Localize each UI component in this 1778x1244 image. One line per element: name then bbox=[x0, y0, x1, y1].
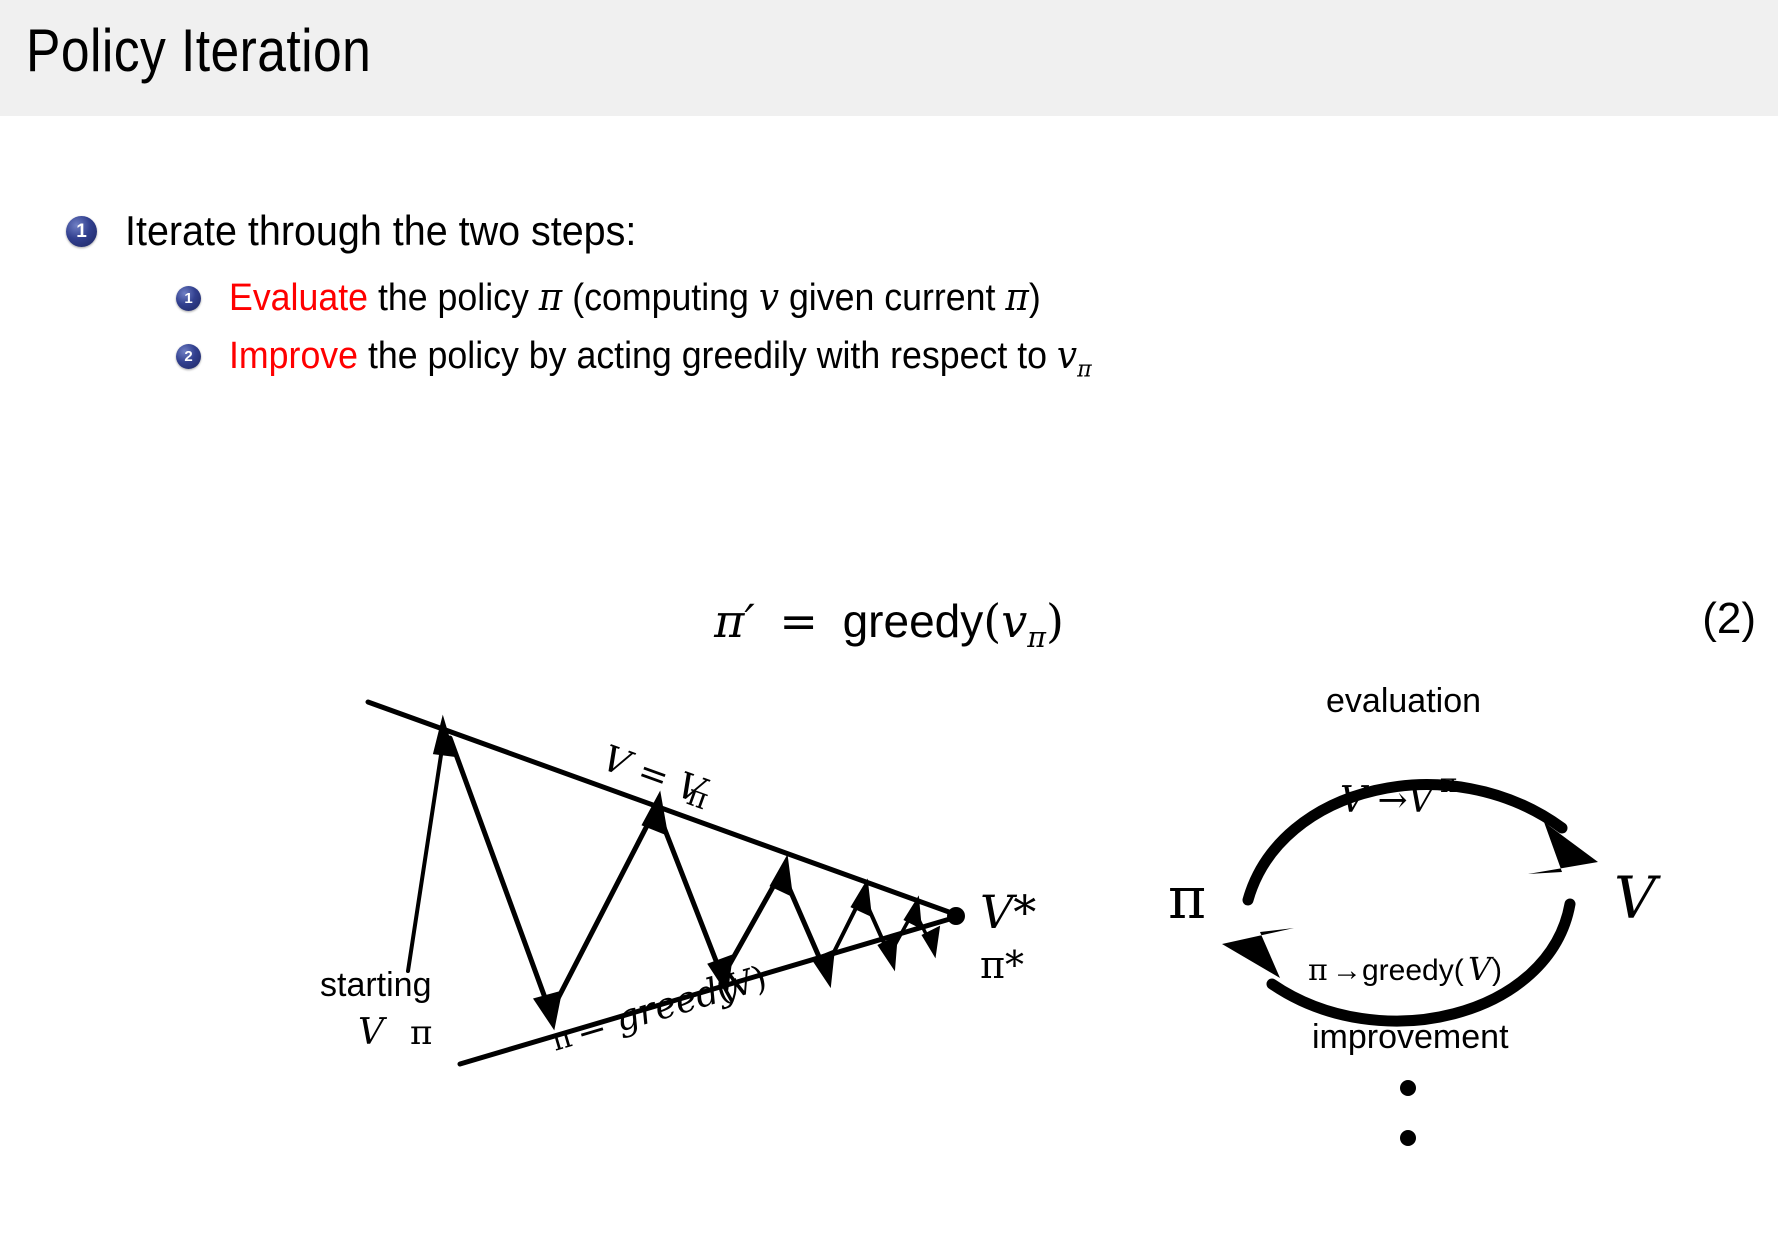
dot-1 bbox=[1400, 1080, 1416, 1096]
equation-paren-open: ( bbox=[983, 594, 1001, 648]
pi-symbol-2: π bbox=[1005, 275, 1028, 319]
slide-header: Policy Iteration bbox=[0, 0, 1778, 116]
v-pi-symbol: v bbox=[1057, 333, 1077, 377]
keyword-improve: Improve bbox=[229, 335, 358, 377]
policy-node-label: π bbox=[1168, 864, 1206, 932]
svg-text:): ) bbox=[1492, 954, 1502, 987]
list-item-label: Iterate through the two steps: bbox=[125, 210, 636, 252]
evaluate-text-2: (computing bbox=[572, 277, 749, 319]
svg-text:π: π bbox=[1308, 953, 1328, 988]
improvement-math-label: π →greedy( V ) bbox=[1308, 950, 1502, 988]
improvement-label: improvement bbox=[1312, 1018, 1509, 1056]
svg-text:V: V bbox=[1468, 950, 1494, 988]
list-item-iterate: 1 Iterate through the two steps: bbox=[66, 216, 669, 252]
improve-line: Improve the policy by acting greedily wi… bbox=[229, 336, 1092, 381]
svg-text:π: π bbox=[547, 1020, 576, 1059]
svg-text:π: π bbox=[1440, 769, 1457, 799]
gpi-cycle-figure: evaluation V →V π π V π →greedy( V ) imp… bbox=[1130, 676, 1690, 1146]
starting-v-label: V bbox=[358, 1012, 388, 1053]
equation-paren-close: ) bbox=[1046, 594, 1064, 648]
v-pi-subscript: π bbox=[1077, 355, 1092, 383]
svg-text:V →V: V →V bbox=[1340, 780, 1438, 821]
evaluate-text-3: given current bbox=[789, 277, 995, 319]
starting-label: starting bbox=[320, 966, 432, 1004]
evaluate-text-1: the policy bbox=[378, 277, 529, 319]
dot-2 bbox=[1400, 1130, 1416, 1146]
equation-number: (2) bbox=[1702, 594, 1756, 644]
policy-iteration-convergence-figure: starting V π V = V π π = greedy (V) V* π… bbox=[300, 676, 1060, 1116]
converged-v-star-label: V* bbox=[980, 885, 1036, 939]
keyword-evaluate: Evaluate bbox=[229, 277, 368, 319]
v-symbol: v bbox=[759, 275, 779, 319]
evaluation-math-label: V →V π bbox=[1340, 769, 1457, 821]
top-line-v-equals-vpi bbox=[368, 702, 960, 916]
equation-pi-prime: π′ bbox=[714, 594, 755, 648]
svg-text:→greedy(: →greedy( bbox=[1332, 954, 1464, 987]
evaluate-paren-close: ) bbox=[1029, 277, 1041, 319]
evaluate-line: Evaluate the policy π (computing v given… bbox=[229, 278, 1041, 317]
value-node-label: V bbox=[1614, 864, 1661, 932]
bullet-number-sub-1: 1 bbox=[176, 286, 201, 311]
bullet-number-1: 1 bbox=[66, 216, 97, 247]
improvement-arrowhead bbox=[1222, 928, 1294, 978]
slide-body: 1 Iterate through the two steps: 1 Evalu… bbox=[0, 116, 1778, 1244]
converged-pi-star-label: π* bbox=[980, 943, 1024, 987]
page-title: Policy Iteration bbox=[26, 16, 371, 85]
improve-text: the policy by acting greedily with respe… bbox=[368, 335, 1047, 377]
starting-pi-label: π bbox=[410, 1013, 432, 1053]
list-item-evaluate: 1 Evaluate the policy π (computing v giv… bbox=[176, 286, 1093, 317]
bottom-line-label: π = greedy (V) bbox=[546, 957, 772, 1060]
list-item-improve: 2 Improve the policy by acting greedily … bbox=[176, 344, 1147, 381]
evaluation-label: evaluation bbox=[1326, 682, 1481, 720]
equation-arg-subscript: π bbox=[1027, 621, 1046, 654]
convergence-dot bbox=[947, 907, 965, 925]
equation-arg-v: v bbox=[1001, 594, 1027, 648]
bullet-number-sub-2: 2 bbox=[176, 344, 201, 369]
equation-greedy: π′ = greedy(vπ) bbox=[0, 594, 1778, 654]
equation-func: greedy bbox=[843, 595, 984, 647]
pi-symbol: π bbox=[539, 275, 562, 319]
equation-equals: = bbox=[779, 594, 818, 648]
